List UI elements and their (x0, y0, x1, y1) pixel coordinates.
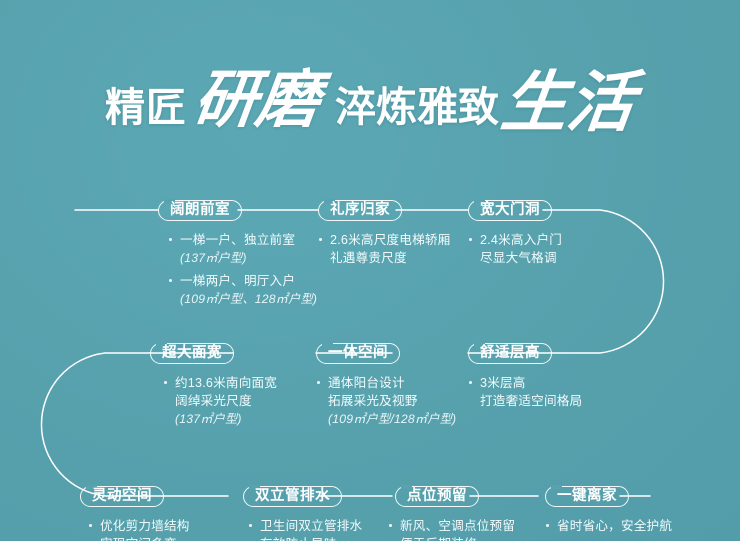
node-content-kuandamendong: 2.4米高入户门 尽显大气格调 (468, 231, 658, 272)
node-label-text: 宽大门洞 (480, 203, 540, 218)
bullet-sub: (109㎡户型、128㎡户型) (180, 290, 358, 308)
list-item: 一梯两户、明厅入户 (109㎡户型、128㎡户型) (168, 272, 358, 308)
node-label-yitikongjian[interactable]: 一体空间 (316, 343, 400, 364)
poster-title-area: 精匠研磨淬炼雅致生活 (0, 38, 740, 148)
list-item: 3米层高 打造奢适空间格局 (468, 374, 658, 410)
bullet-line-2: 尽显大气格调 (480, 249, 658, 267)
title-segment-4: 生活 (497, 49, 641, 145)
poster-canvas: 精匠研磨淬炼雅致生活 阔朗前室 一梯一户、独立前室 (0, 0, 740, 541)
node-label-text: 双立管排水 (255, 489, 330, 504)
node-label-text: 一体空间 (328, 346, 388, 361)
bullet-main: 省时省心，安全护航 (557, 517, 735, 535)
list-item: 省时省心，安全护航 (545, 517, 735, 535)
node-label-shushicenggao[interactable]: 舒适层高 (468, 343, 552, 364)
node-label-text: 灵动空间 (92, 489, 152, 504)
node-label-text: 一键离家 (557, 489, 617, 504)
node-label-text: 阔朗前室 (170, 203, 230, 218)
node-label-lixuguijia[interactable]: 礼序归家 (318, 200, 402, 221)
node-label-chaodamiankuan[interactable]: 超大面宽 (150, 343, 234, 364)
node-label-lingdongkongjian[interactable]: 灵动空间 (80, 486, 164, 507)
bullet-main: 2.4米高入户门 (480, 231, 658, 249)
node-label-yijianlijia[interactable]: 一键离家 (545, 486, 629, 507)
node-label-text: 点位预留 (407, 489, 467, 504)
page-title: 精匠研磨淬炼雅致生活 (105, 45, 635, 141)
node-content-yijianlijia: 省时省心，安全护航 (545, 517, 735, 540)
node-label-text: 超大面宽 (162, 346, 222, 361)
node-label-kuandamendong[interactable]: 宽大门洞 (468, 200, 552, 221)
bullet-line-2: 打造奢适空间格局 (480, 392, 658, 410)
title-segment-3: 淬炼雅致 (335, 73, 499, 133)
node-label-text: 礼序归家 (330, 203, 390, 218)
node-label-dianweiyuliu[interactable]: 点位预留 (395, 486, 479, 507)
title-segment-2: 研磨 (189, 49, 324, 140)
node-label-text: 舒适层高 (480, 346, 540, 361)
node-content-shushicenggao: 3米层高 打造奢适空间格局 (468, 374, 658, 415)
list-item: 2.4米高入户门 尽显大气格调 (468, 231, 658, 267)
node-label-shuangliguanpaishui[interactable]: 双立管排水 (243, 486, 342, 507)
bullet-main: 一梯两户、明厅入户 (180, 272, 358, 290)
bullet-main: 3米层高 (480, 374, 658, 392)
title-segment-1: 精匠 (105, 75, 187, 133)
node-label-kuolangqianshi[interactable]: 阔朗前室 (158, 200, 242, 221)
